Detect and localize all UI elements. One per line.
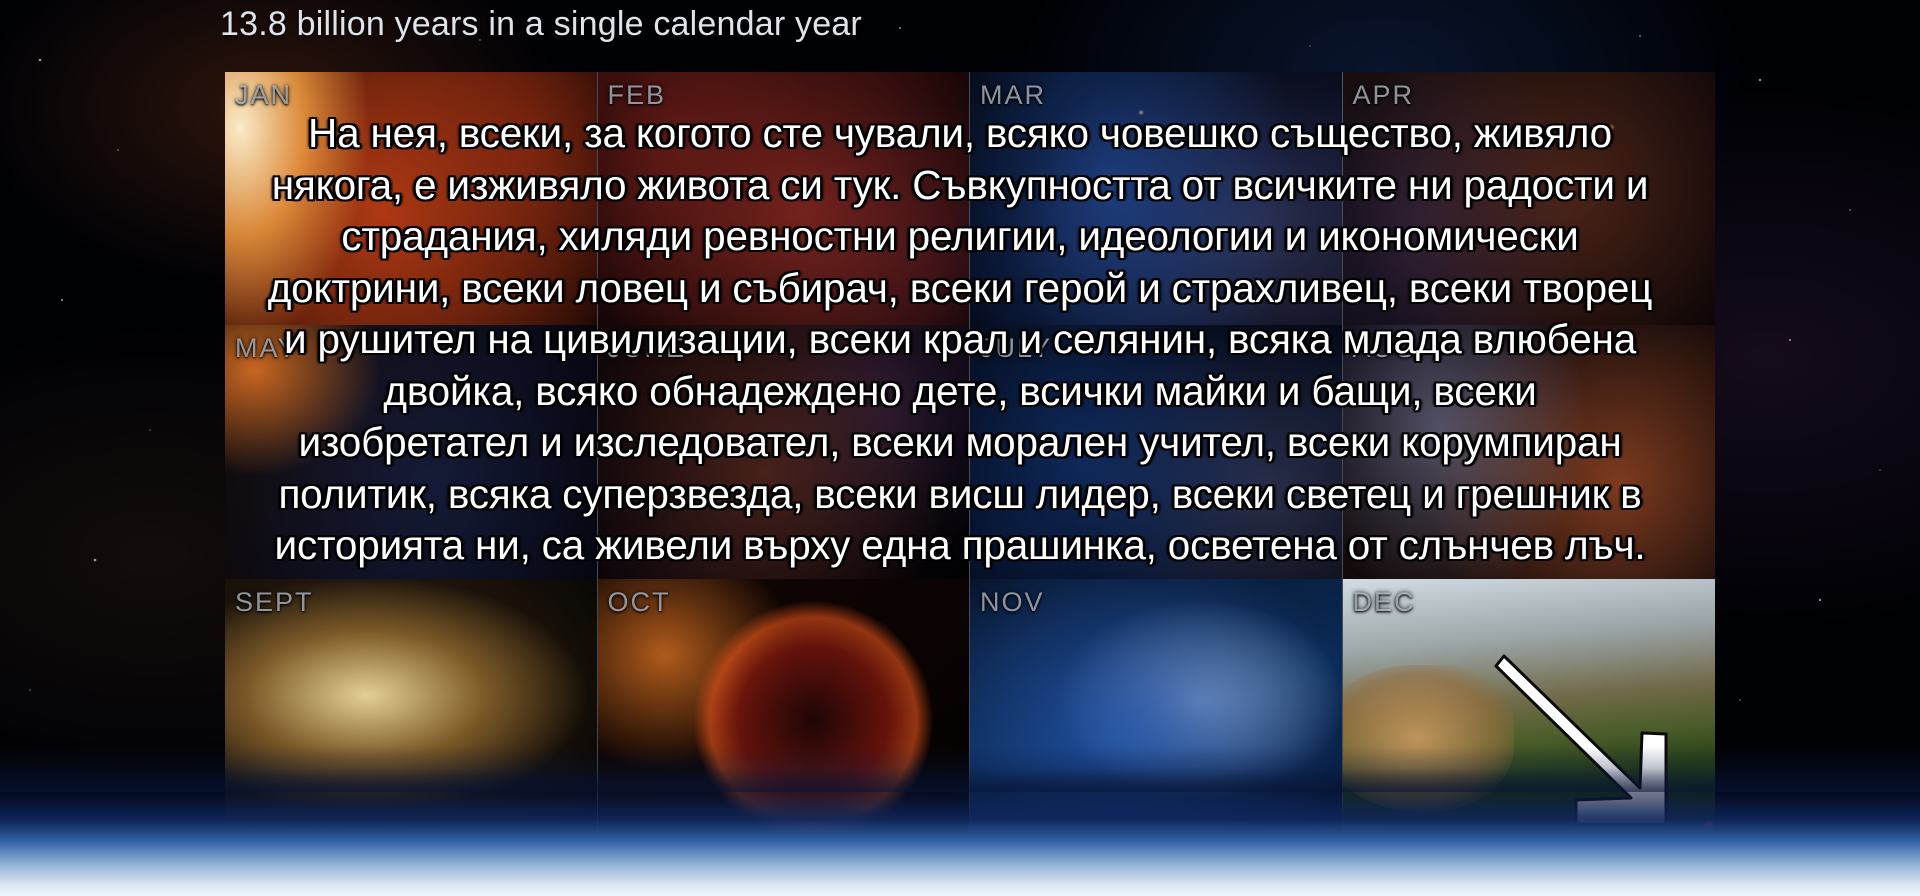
earth-limb-glow	[0, 768, 1920, 896]
page-title: 13.8 billion years in a single calendar …	[220, 5, 862, 44]
video-frame: JANFEBMARAPRMAYJUNEJULYAUGSEPTOCTNOVDEC …	[0, 0, 1920, 896]
subtitle-caption: На нея, всеки, за когото сте чували, вся…	[0, 108, 1920, 572]
